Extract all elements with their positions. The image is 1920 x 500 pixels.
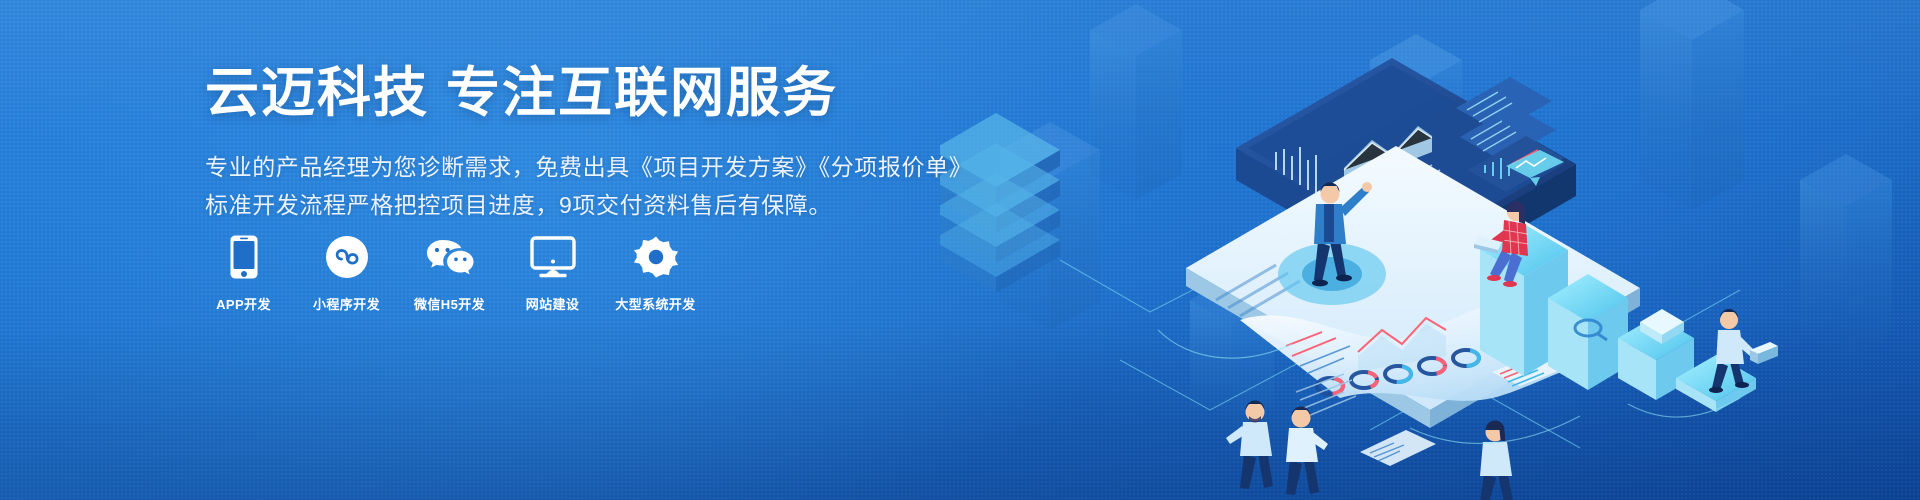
page-title: 云迈科技 专注互联网服务	[205, 64, 965, 123]
subtitle-line-1: 专业的产品经理为您诊断需求，免费出具《项目开发方案》《分项报价单》	[205, 149, 965, 186]
service-item-website[interactable]: 网站建设	[515, 232, 590, 313]
service-list: APP开发 小程序开发	[206, 232, 693, 313]
hero-banner: 云迈科技 专注互联网服务 专业的产品经理为您诊断需求，免费出具《项目开发方案》《…	[0, 0, 1920, 500]
service-item-wechat-h5[interactable]: 微信H5开发	[412, 232, 487, 313]
mini-program-icon	[325, 232, 369, 282]
service-label: 大型系统开发	[615, 294, 695, 313]
monitor-icon	[530, 232, 576, 282]
gear-icon	[634, 232, 678, 282]
banner-copy: 云迈科技 专注互联网服务 专业的产品经理为您诊断需求，免费出具《项目开发方案》《…	[205, 64, 965, 224]
service-item-large-system[interactable]: 大型系统开发	[618, 232, 693, 313]
service-item-app[interactable]: APP开发	[206, 232, 281, 313]
wechat-icon	[424, 232, 476, 282]
service-label: 微信H5开发	[414, 294, 485, 313]
mobile-phone-icon	[229, 232, 259, 282]
service-label: APP开发	[216, 294, 271, 313]
service-label: 小程序开发	[313, 294, 380, 313]
isometric-data-dashboard-illustration	[940, 0, 1920, 500]
service-item-mini-program[interactable]: 小程序开发	[309, 232, 384, 313]
subtitle-line-2: 标准开发流程严格把控项目进度，9项交付资料售后有保障。	[205, 187, 965, 224]
service-label: 网站建设	[526, 294, 580, 313]
